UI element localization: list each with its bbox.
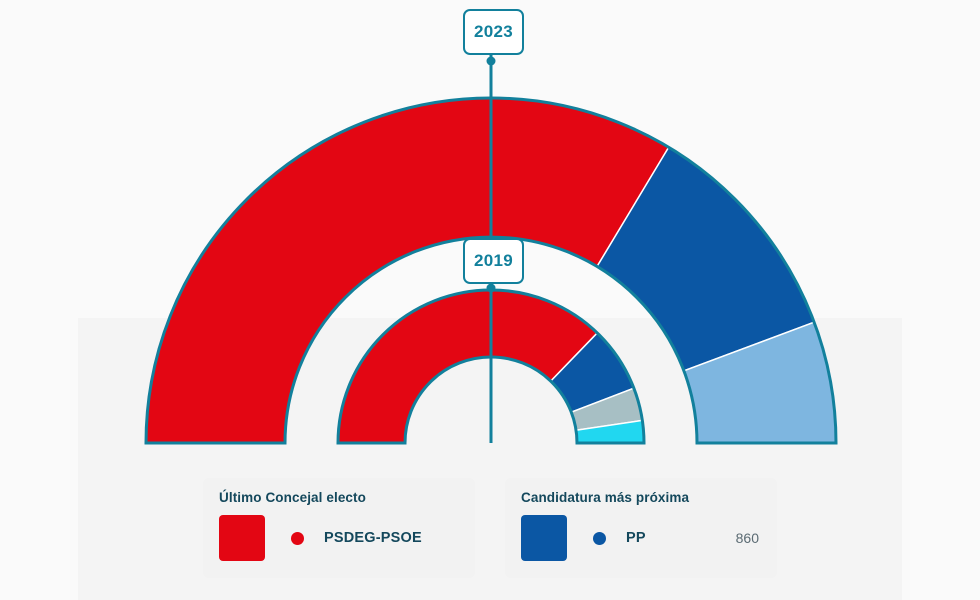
legend-party-name: PSDEG-PSOE (324, 530, 422, 546)
legend-entry: PSDEG-PSOE (219, 513, 459, 563)
hemicycle-svg (0, 0, 980, 470)
legend-card-closest-candidacy: Candidatura más próxima PP 860 (505, 478, 777, 578)
year-label-2019-text: 2019 (474, 251, 513, 271)
legend-color-dot (593, 532, 606, 545)
hemicycle-chart (0, 0, 980, 470)
year-label-2023: 2023 (463, 9, 524, 55)
legend-vote-count: 860 (736, 530, 761, 546)
legend-party-name: PP (626, 530, 646, 546)
legend-card-title: Candidatura más próxima (521, 490, 761, 505)
axis-dot-2023 (487, 57, 496, 66)
arc-segment-psdeg-psoe[interactable] (338, 290, 597, 443)
legend-card-last-elected: Último Concejal electo PSDEG-PSOE (203, 478, 475, 578)
legend-row: Último Concejal electo PSDEG-PSOE Candid… (0, 478, 980, 578)
legend-color-swatch (521, 515, 567, 561)
year-label-2023-text: 2023 (474, 22, 513, 42)
legend-color-dot (291, 532, 304, 545)
legend-color-swatch (219, 515, 265, 561)
axis-dot-2019 (487, 284, 496, 293)
legend-entry: PP 860 (521, 513, 761, 563)
legend-card-title: Último Concejal electo (219, 490, 459, 505)
year-label-2019: 2019 (463, 238, 524, 284)
